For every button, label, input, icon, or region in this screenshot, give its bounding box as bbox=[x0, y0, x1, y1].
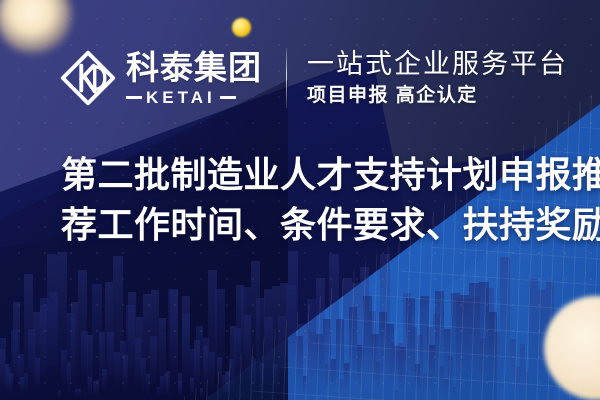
ketai-diamond-kd-logo-icon bbox=[60, 50, 116, 106]
brand-wordmark: 科泰集团 KETAI bbox=[126, 51, 262, 106]
gold-sphere-icon bbox=[232, 18, 251, 37]
banner-header: 科泰集团 KETAI 一站式企业服务平台 项目申报 高企认定 bbox=[60, 42, 568, 114]
brand-name-cn: 科泰集团 bbox=[126, 51, 262, 84]
headline-line-2: 荐工作时间、条件要求、扶持奖励 bbox=[61, 200, 576, 250]
wordmark-rule-left bbox=[126, 96, 142, 99]
headline-line-1: 第二批制造业人才支持计划申报推 bbox=[61, 150, 576, 200]
wordmark-rule-right bbox=[220, 96, 236, 99]
brand-logo[interactable]: 科泰集团 KETAI bbox=[60, 50, 262, 106]
brand-slogan: 一站式企业服务平台 项目申报 高企认定 bbox=[307, 49, 568, 107]
header-divider bbox=[286, 48, 287, 108]
slogan-sub: 项目申报 高企认定 bbox=[307, 85, 568, 107]
brand-name-en-row: KETAI bbox=[126, 89, 262, 106]
promo-banner: 科泰集团 KETAI 一站式企业服务平台 项目申报 高企认定 第二批制造业人才支… bbox=[0, 0, 600, 400]
brand-name-en: KETAI bbox=[146, 89, 216, 106]
banner-headline: 第二批制造业人才支持计划申报推 荐工作时间、条件要求、扶持奖励 bbox=[61, 150, 576, 250]
slogan-main: 一站式企业服务平台 bbox=[307, 49, 568, 80]
